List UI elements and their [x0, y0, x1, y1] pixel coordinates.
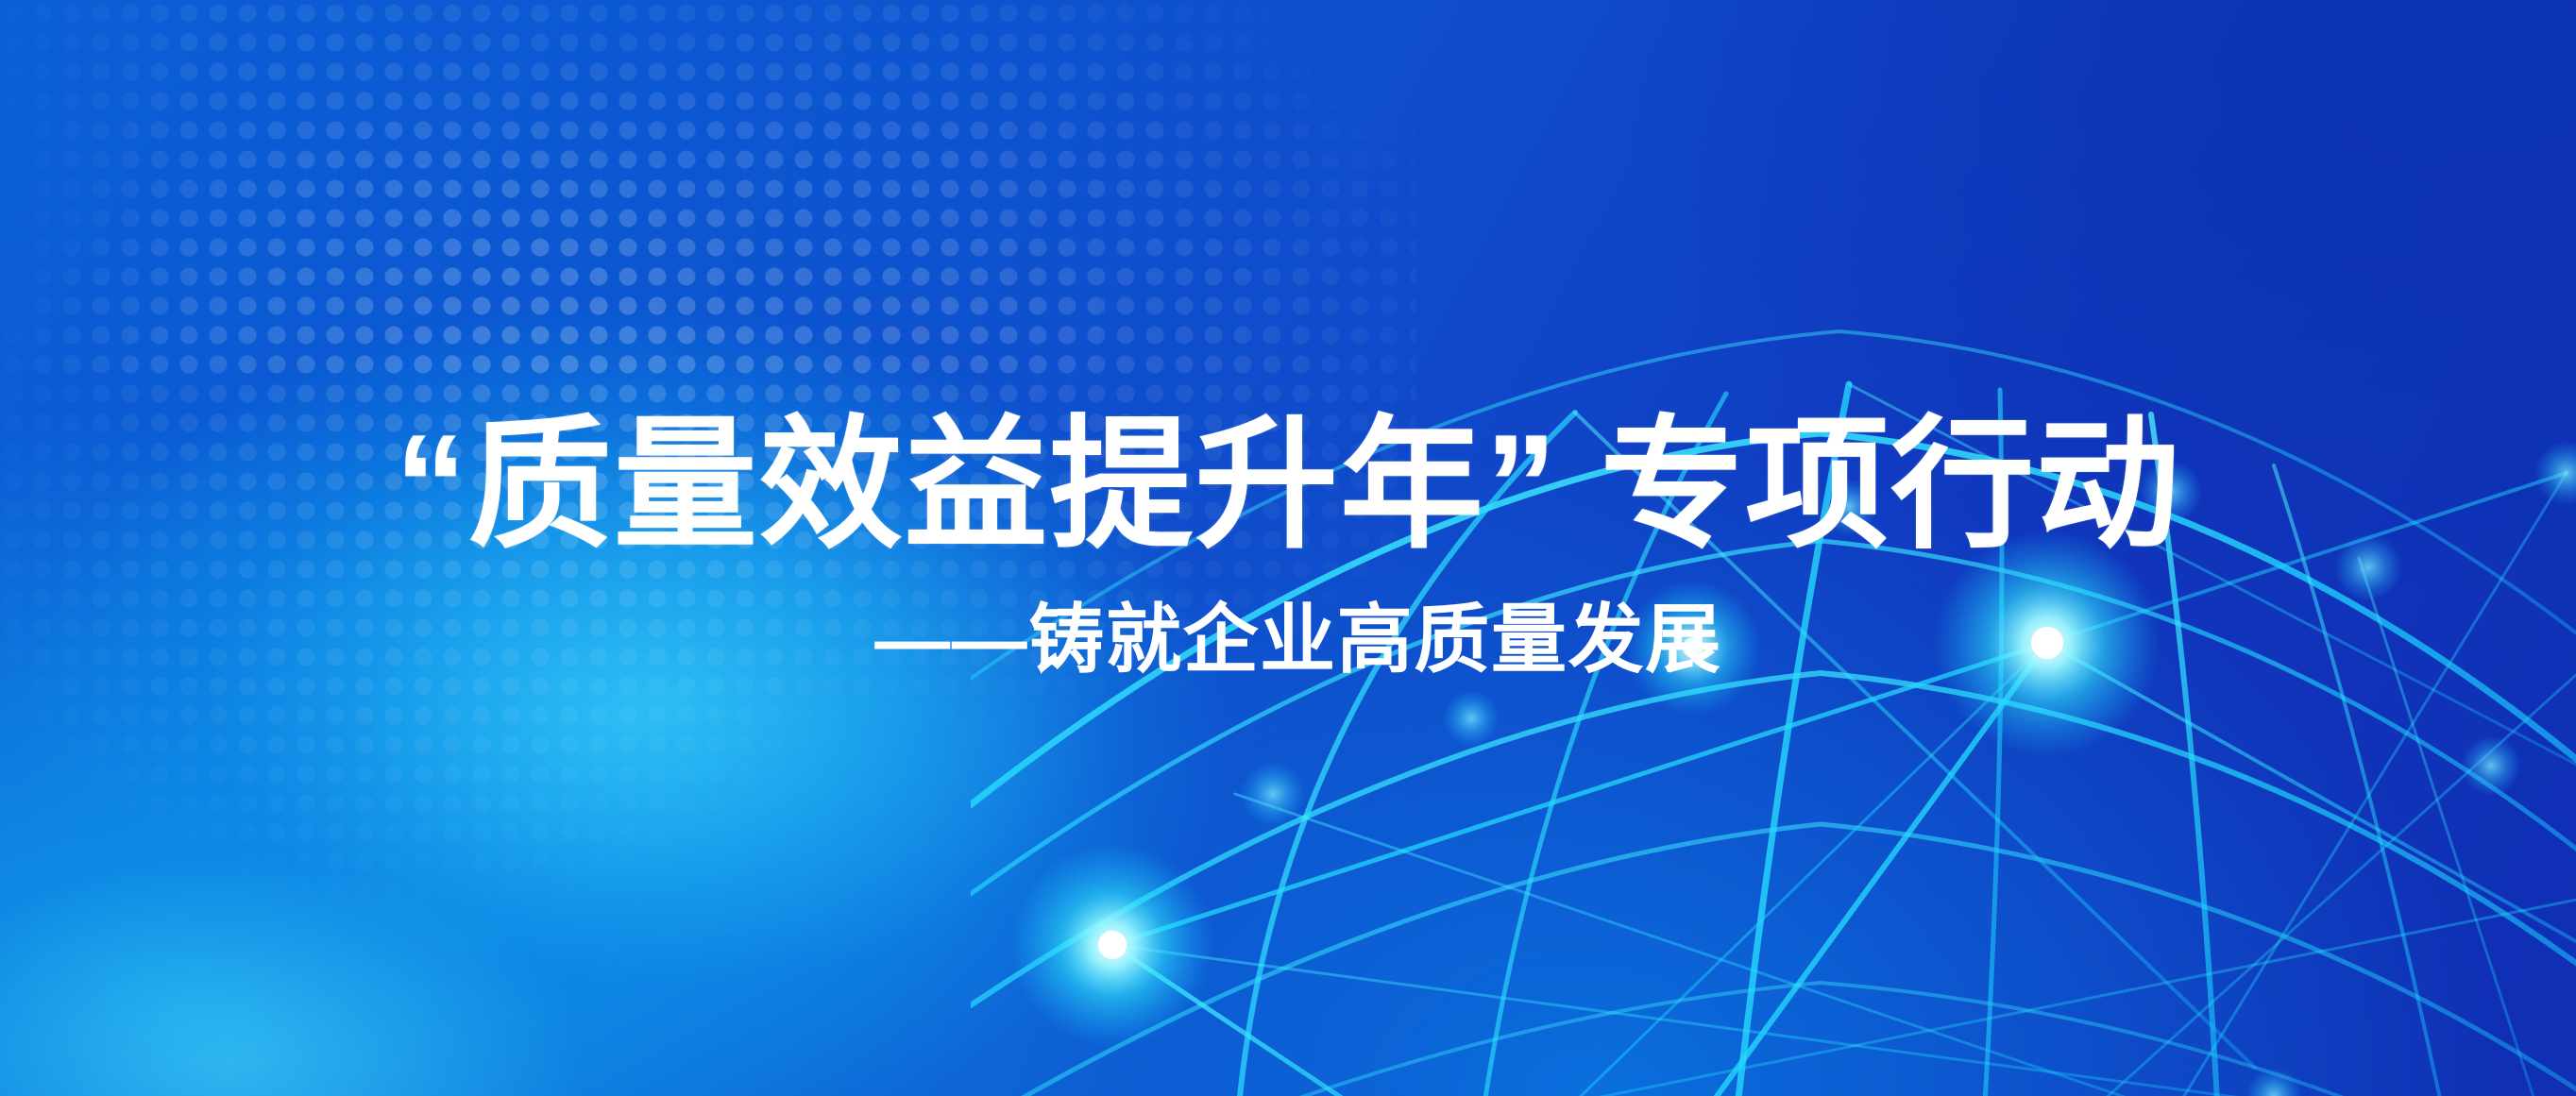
- headline-block: “质量效益提升年”专项行动 ——铸就企业高质量发展: [0, 408, 2576, 682]
- page-title: “质量效益提升年”专项行动: [0, 408, 2576, 563]
- page-subtitle: ——铸就企业高质量发展: [21, 599, 2576, 682]
- title-quoted-phrase: “质量效益提升年”: [395, 405, 1558, 565]
- promotional-banner: “质量效益提升年”专项行动 ——铸就企业高质量发展: [0, 0, 2576, 1096]
- title-rest: 专项行动: [1601, 405, 2181, 565]
